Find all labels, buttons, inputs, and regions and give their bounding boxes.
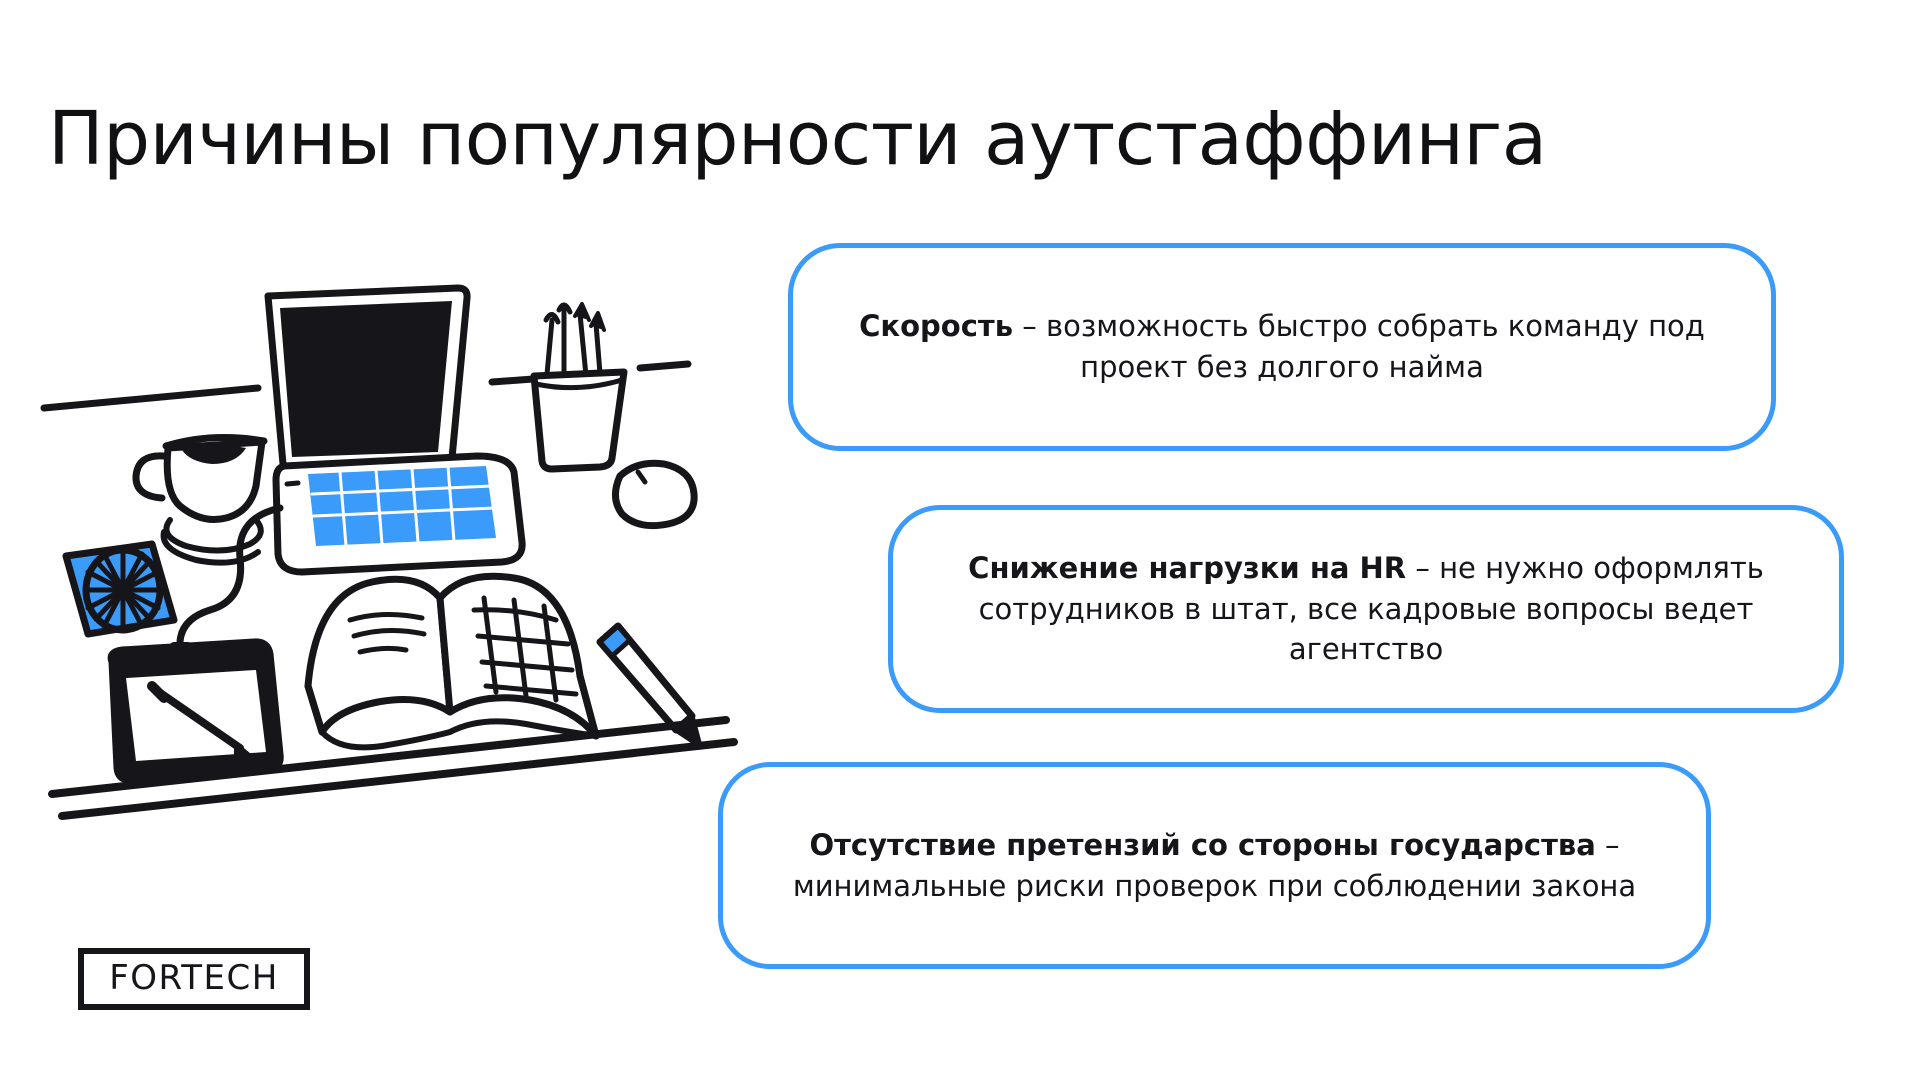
benefit-card-speed-lead: Скорость [859, 309, 1013, 343]
benefit-card-hr-load-lead: Снижение нагрузки на HR [968, 551, 1406, 585]
benefit-card-speed: Скорость – возможность быстро собрать ко… [788, 243, 1776, 451]
benefit-card-no-claims: Отсутствие претензий со стороны государс… [718, 762, 1711, 969]
benefit-card-no-claims-separator: – [1596, 828, 1620, 862]
benefit-card-hr-load-separator: – [1406, 551, 1439, 585]
slide-root: Причины популярности аутстаффинга [0, 0, 1920, 1080]
page-title: Причины популярности аутстаффинга [48, 102, 1848, 176]
benefit-card-speed-text: Скорость – возможность быстро собрать ко… [793, 306, 1771, 387]
fortech-logo: FORTECH [78, 948, 310, 1010]
fortech-logo-text: FORTECH [109, 961, 279, 997]
mouse-icon [615, 463, 694, 525]
benefit-card-hr-load: Снижение нагрузки на HR – не нужно оформ… [888, 505, 1844, 713]
pen-holder-icon [534, 304, 624, 469]
benefit-card-speed-separator: – [1013, 309, 1046, 343]
benefit-card-no-claims-lead: Отсутствие претензий со стороны государс… [809, 828, 1595, 862]
open-notebook-icon [308, 576, 596, 747]
benefit-card-hr-load-text: Снижение нагрузки на HR – не нужно оформ… [893, 548, 1839, 670]
benefit-card-speed-body: возможность быстро собрать команду под п… [1046, 309, 1705, 384]
graphics-tablet-icon [111, 642, 280, 780]
benefit-card-no-claims-text: Отсутствие претензий со стороны государс… [723, 825, 1706, 906]
benefit-card-no-claims-body: минимальные риски проверок при соблюдени… [793, 869, 1636, 903]
desk-line-upper-left [44, 388, 258, 408]
desk-workspace-illustration [40, 280, 780, 820]
laptop-icon [268, 288, 522, 572]
blue-coaster-icon [66, 544, 174, 634]
